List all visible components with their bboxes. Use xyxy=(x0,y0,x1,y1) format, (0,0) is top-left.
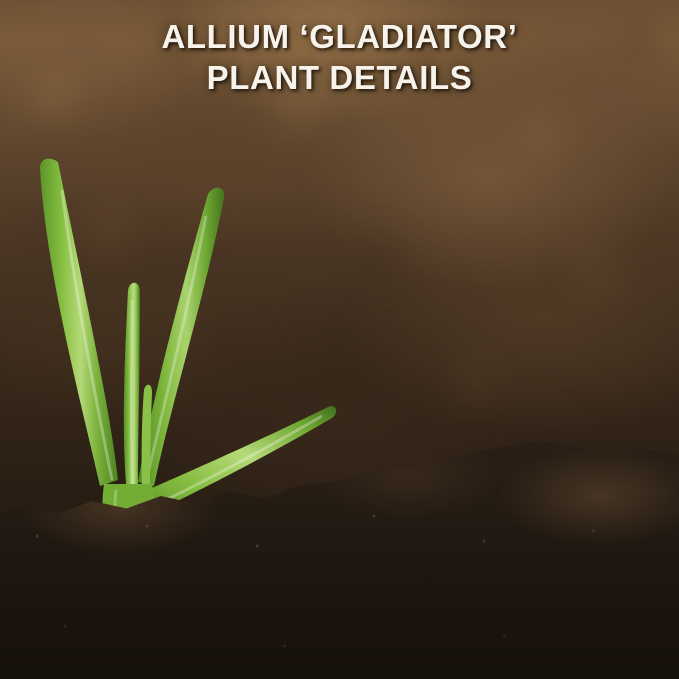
product-infographic: ALLIUM ‘GLADIATOR’ PLANT DETAILS FULL SU… xyxy=(0,0,679,679)
feature-list: FULL SUN, PARTIAL SHADE xyxy=(0,0,679,679)
